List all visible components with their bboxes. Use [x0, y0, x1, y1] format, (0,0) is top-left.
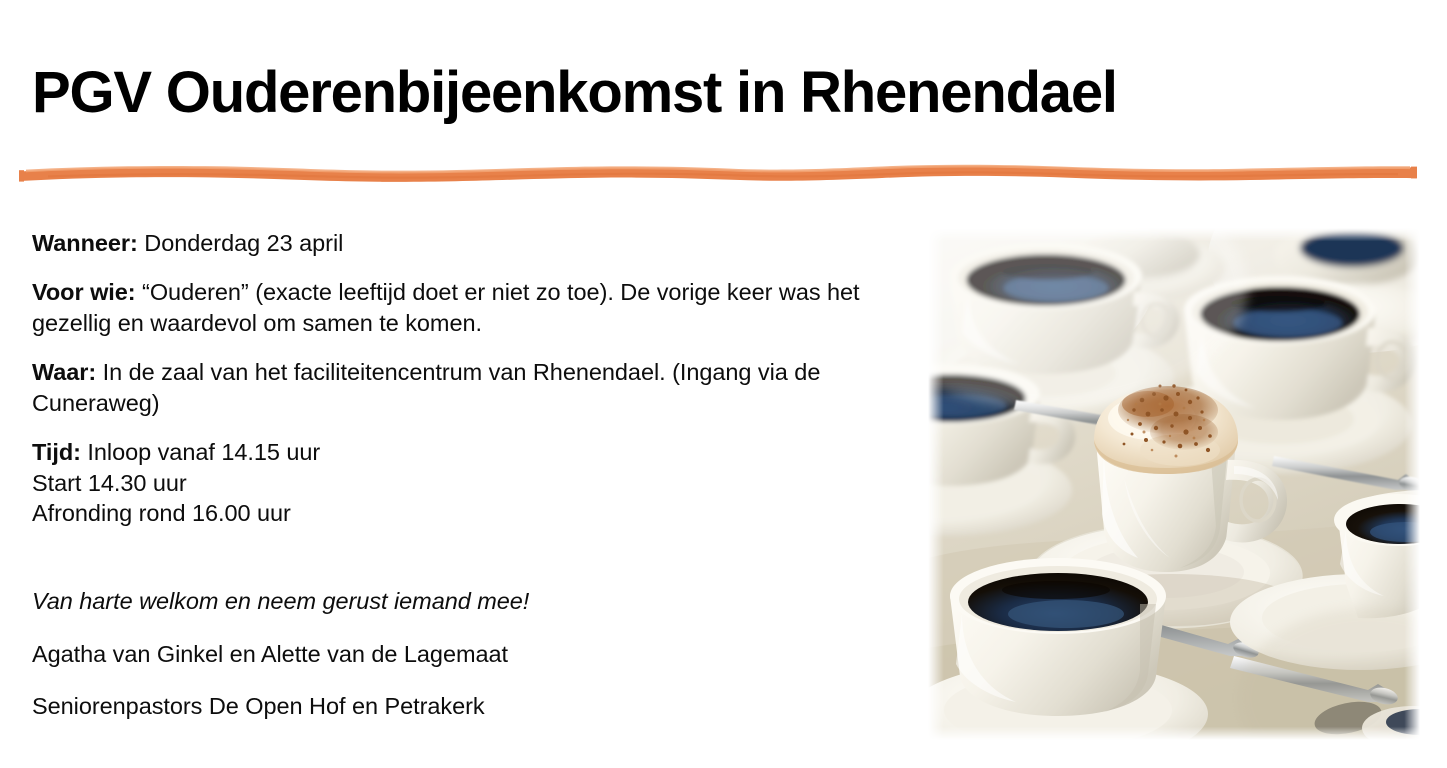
- detail-where: Waar: In de zaal van het faciliteitencen…: [32, 357, 887, 418]
- detail-when-label: Wanneer:: [32, 230, 138, 256]
- detail-time-start: Start 14.30 uur: [32, 468, 887, 498]
- detail-when: Wanneer: Donderdag 23 april: [32, 228, 887, 258]
- coffee-cups-illustration: [928, 228, 1420, 740]
- detail-for-whom-label: Voor wie:: [32, 279, 136, 305]
- detail-time-end: Afronding rond 16.00 uur: [32, 498, 887, 528]
- signature-role: Seniorenpastors De Open Hof en Petrakerk: [32, 691, 887, 721]
- signature-names: Agatha van Ginkel en Alette van de Lagem…: [32, 639, 887, 669]
- detail-time: Tijd: Inloop vanaf 14.15 uur: [32, 437, 887, 467]
- detail-where-label: Waar:: [32, 359, 96, 385]
- welcome-note: Van harte welkom en neem gerust iemand m…: [32, 586, 887, 616]
- detail-for-whom-value: “Ouderen” (exacte leeftijd doet er niet …: [32, 279, 860, 335]
- detail-time-value: Inloop vanaf 14.15 uur: [81, 439, 320, 465]
- coffee-cups-photo: [928, 228, 1420, 740]
- detail-when-value: Donderdag 23 april: [138, 230, 343, 256]
- detail-for-whom: Voor wie: “Ouderen” (exacte leeftijd doe…: [32, 277, 887, 338]
- detail-where-value: In de zaal van het faciliteitencentrum v…: [32, 359, 820, 415]
- divider: [18, 158, 1418, 188]
- spacer: [32, 528, 887, 586]
- brush-stroke-icon: [18, 158, 1418, 188]
- page-title: PGV Ouderenbijeenkomst in Rhenendael: [32, 61, 1232, 126]
- body-text-column: Wanneer: Donderdag 23 april Voor wie: “O…: [32, 228, 887, 722]
- detail-time-label: Tijd:: [32, 439, 81, 465]
